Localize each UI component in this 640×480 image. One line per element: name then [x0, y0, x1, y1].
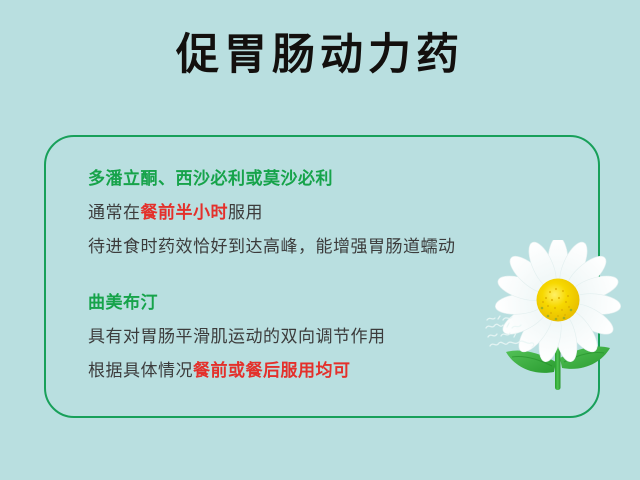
drug-group-1-line-1: 通常在餐前半小时服用: [88, 196, 508, 230]
content-body: 多潘立酮、西沙必利或莫沙必利 通常在餐前半小时服用 待进食时药效恰好到达高峰，能…: [88, 162, 508, 388]
line-text-highlight: 餐前或餐后服用均可: [193, 361, 351, 380]
slide-canvas: 促胃肠动力药 多潘立酮、西沙必利或莫沙必利 通常在餐前半小时服用 待进食时药效恰…: [0, 0, 640, 480]
flower-center: [537, 279, 580, 322]
drug-group-2-heading: 曲美布汀: [88, 286, 508, 320]
drug-group-1-line-2: 待进食时药效恰好到达高峰，能增强胃肠道蠕动: [88, 230, 508, 264]
line-text-highlight: 餐前半小时: [141, 203, 229, 222]
page-title: 促胃肠动力药: [0, 30, 640, 82]
drug-group-2: 曲美布汀 具有对胃肠平滑肌运动的双向调节作用 根据具体情况餐前或餐后服用均可: [88, 286, 508, 388]
drug-group-2-line-1: 具有对胃肠平滑肌运动的双向调节作用: [88, 320, 508, 354]
line-text-before: 根据具体情况: [88, 361, 193, 380]
drug-group-2-line-2: 根据具体情况餐前或餐后服用均可: [88, 354, 508, 388]
line-text-before: 通常在: [88, 203, 141, 222]
drug-group-1: 多潘立酮、西沙必利或莫沙必利 通常在餐前半小时服用 待进食时药效恰好到达高峰，能…: [88, 162, 508, 264]
line-text-before: 具有对胃肠平滑肌运动的双向调节作用: [88, 327, 386, 346]
drug-group-1-heading: 多潘立酮、西沙必利或莫沙必利: [88, 162, 508, 196]
line-text-before: 待进食时药效恰好到达高峰，能增强胃肠道蠕动: [88, 237, 456, 256]
line-text-after: 服用: [228, 203, 263, 222]
handwritten-script-mark: [483, 312, 541, 358]
